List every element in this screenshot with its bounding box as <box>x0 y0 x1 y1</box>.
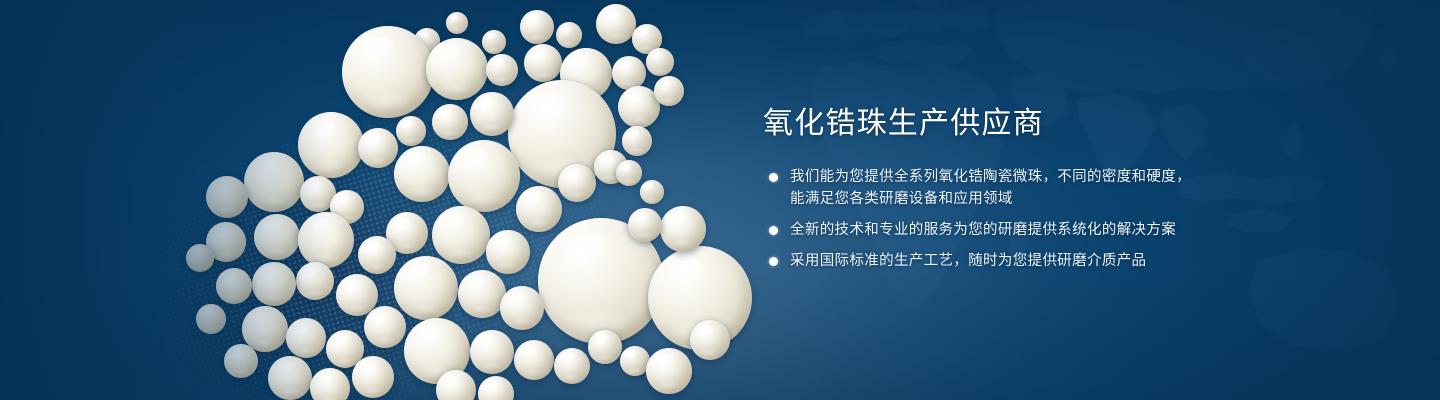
bullet-text-line2: 能满足您各类研磨设备和应用领域 <box>790 188 1363 210</box>
bullet-text-line1: 采用国际标准的生产工艺，随时为您提供研磨介质产品 <box>790 253 1146 269</box>
hero-banner: 氧化锆珠生产供应商 我们能为您提供全系列氧化锆陶瓷微珠，不同的密度和硬度， 能满… <box>0 0 1440 400</box>
list-item: 我们能为您提供全系列氧化锆陶瓷微珠，不同的密度和硬度， 能满足您各类研磨设备和应… <box>763 166 1363 210</box>
banner-headline: 氧化锆珠生产供应商 <box>763 104 1363 144</box>
list-item: 采用国际标准的生产工艺，随时为您提供研磨介质产品 <box>763 250 1363 272</box>
bullet-dot-icon <box>769 226 778 235</box>
list-item: 全新的技术和专业的服务为您的研磨提供系统化的解决方案 <box>763 219 1363 241</box>
bullet-text-line1: 我们能为您提供全系列氧化锆陶瓷微珠，不同的密度和硬度， <box>790 169 1191 185</box>
bullet-text-line1: 全新的技术和专业的服务为您的研磨提供系统化的解决方案 <box>790 222 1176 238</box>
banner-feature-list: 我们能为您提供全系列氧化锆陶瓷微珠，不同的密度和硬度， 能满足您各类研磨设备和应… <box>763 166 1363 272</box>
bullet-dot-icon <box>769 257 778 266</box>
left-edge-vignette <box>0 0 330 400</box>
banner-text-block: 氧化锆珠生产供应商 我们能为您提供全系列氧化锆陶瓷微珠，不同的密度和硬度， 能满… <box>763 104 1363 281</box>
bullet-dot-icon <box>769 173 778 182</box>
